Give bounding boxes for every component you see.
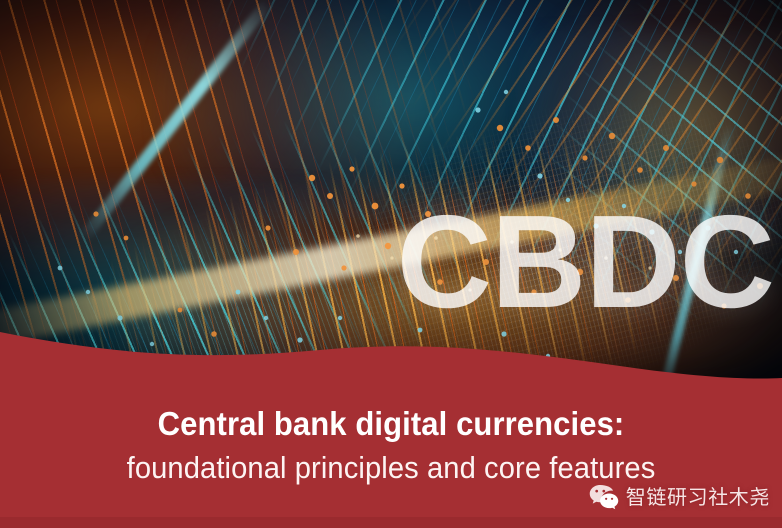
title-block: Central bank digital currencies: foundat… xyxy=(0,404,782,487)
banner-bottom-strip xyxy=(0,517,782,528)
page-subtitle: foundational principles and core feature… xyxy=(23,449,758,487)
wechat-logo-icon xyxy=(589,484,619,510)
cbdc-wordmark: CBDC xyxy=(0,196,782,328)
report-cover: CBDC Central bank digital currencies: fo… xyxy=(0,0,782,528)
page-title: Central bank digital currencies: xyxy=(23,404,758,444)
cyan-glow-top xyxy=(150,0,670,220)
watermark-text: 智链研习社木尧 xyxy=(626,487,770,507)
wechat-watermark: 智链研习社木尧 xyxy=(589,484,770,510)
